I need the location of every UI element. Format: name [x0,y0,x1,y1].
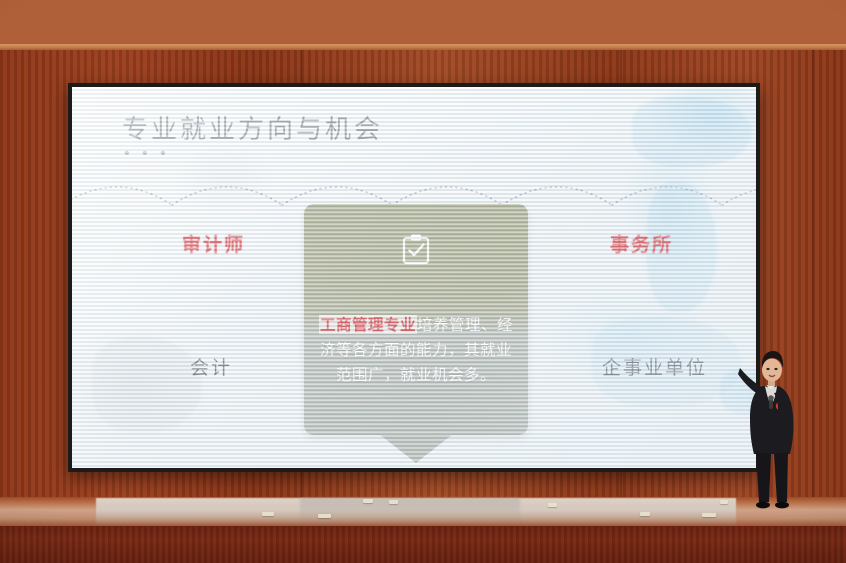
floor-marker [262,512,274,516]
wall-upper-panel [0,0,846,50]
presenter-shoe [756,502,770,509]
label-institution: 企事业单位 [602,353,707,380]
label-firm: 事务所 [610,230,673,257]
presenter-face [762,359,782,382]
presenter-shoe [775,502,789,509]
floor-marker [720,500,728,504]
stage-front-edge [0,526,846,563]
center-info-card: 工商管理专业培养管理、经济等各方面的能力，其就业范围广，就业机会多。 [304,204,528,435]
card-pointer-tail [379,434,453,463]
floor-marker [548,503,557,507]
slide-title-dots: • • • [124,145,170,163]
slide-title: 专业就业方向与机会 [122,109,383,146]
presenter-leg [756,452,771,502]
floor-marker [363,499,373,503]
microphone-head [768,395,774,401]
projection-screen-bezel: 专业就业方向与机会 • • • 审计师 事务所 会计 企事业单位 [68,83,760,472]
wall-seam [812,50,814,500]
label-accounting: 会计 [190,353,232,380]
floor-marker [318,514,331,518]
presenter-eye [766,368,769,370]
projection-screen-surface: 专业就业方向与机会 • • • 审计师 事务所 会计 企事业单位 [72,87,756,468]
presenter-leg [774,452,788,502]
presenter-figure [738,342,812,518]
map-coastline-shape [632,97,752,167]
stage-floor-reflection [300,498,520,524]
map-landmass-shape [92,337,202,432]
clipboard-check-icon [399,232,433,266]
presentation-photo: 专业就业方向与机会 • • • 审计师 事务所 会计 企事业单位 [0,0,846,563]
floor-marker [640,512,650,516]
label-auditor: 审计师 [182,230,245,257]
card-highlight-term: 工商管理专业 [319,315,417,334]
card-description: 工商管理专业培养管理、经济等各方面的能力，其就业范围广，就业机会多。 [316,312,516,388]
floor-marker [389,500,398,504]
presenter-eye [774,368,777,370]
floor-marker [702,513,716,517]
